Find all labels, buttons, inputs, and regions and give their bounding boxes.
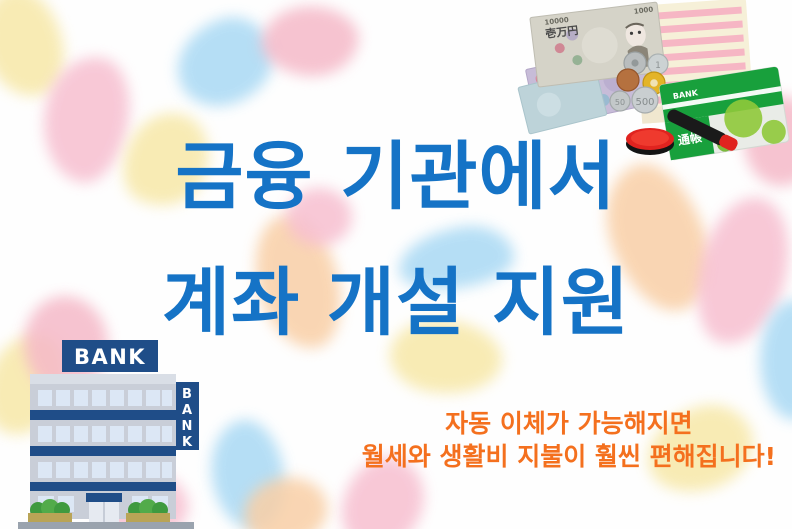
bank-side-sign-letter-n: N bbox=[182, 419, 193, 434]
blob-blue-mid bbox=[394, 220, 517, 296]
building-window-row-2 bbox=[38, 426, 172, 442]
bank-side-sign-letter-b: B bbox=[182, 387, 192, 402]
ink-pad bbox=[626, 128, 674, 155]
svg-text:1: 1 bbox=[655, 61, 661, 71]
bank-side-sign-letter-k: K bbox=[182, 435, 193, 450]
building-band-1 bbox=[30, 410, 176, 420]
blob-pink-mid bbox=[286, 188, 352, 246]
building-window-row-1 bbox=[38, 390, 172, 406]
bank-building-illustration: BANK B A N K bbox=[8, 336, 220, 529]
coin-500: 500 bbox=[632, 87, 658, 113]
bank-side-sign-letter-a: A bbox=[182, 403, 192, 418]
building-band-3 bbox=[30, 482, 176, 491]
entrance-awning bbox=[86, 493, 122, 502]
blob-yellow-center bbox=[384, 311, 507, 403]
bank-sign-text: BANK bbox=[74, 345, 146, 369]
subtitle-block: 자동 이체가 가능해지면 월세와 생활비 지불이 훨씬 편해집니다! bbox=[362, 408, 776, 473]
money-illustration: 壱万円 10000 1000 1 50 bbox=[524, 0, 792, 165]
poster-root: BANK B A N K bbox=[0, 0, 792, 529]
coin-1: 1 bbox=[648, 54, 668, 74]
blob-blue-top bbox=[165, 7, 284, 117]
building-band-2 bbox=[30, 446, 176, 456]
coin-10 bbox=[617, 69, 639, 91]
building-window-row-3 bbox=[38, 462, 172, 478]
svg-text:50: 50 bbox=[615, 98, 625, 107]
coin-50: 50 bbox=[610, 91, 630, 111]
subtitle-line-1: 자동 이체가 가능해지면 bbox=[362, 408, 776, 441]
bank-building-svg: BANK B A N K bbox=[8, 336, 220, 529]
blob-rose-top-mid bbox=[258, 0, 363, 82]
svg-text:500: 500 bbox=[635, 97, 654, 108]
building-ground-strip bbox=[18, 522, 194, 529]
subtitle-line-2: 월세와 생활비 지불이 훨씬 편해집니다! bbox=[362, 441, 776, 474]
building-roof-slab bbox=[30, 374, 176, 384]
money-svg: 壱万円 10000 1000 1 50 bbox=[524, 0, 792, 165]
banknote-10000-yen: 壱万円 10000 1000 bbox=[530, 2, 666, 87]
